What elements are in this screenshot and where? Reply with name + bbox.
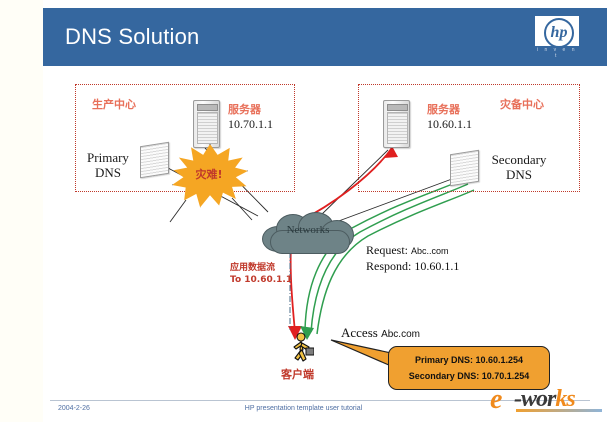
secondary-dns-label-line2: DNS <box>483 167 555 182</box>
region-label-dr: 灾备中心 <box>500 96 544 112</box>
respond-label: Respond: <box>366 259 411 273</box>
access-label-text: Access <box>341 325 378 340</box>
burst-ray-right <box>232 198 252 220</box>
primary-server-name: 服务器 <box>228 101 261 117</box>
secondary-dns-label-line1: Secondary <box>483 152 555 167</box>
region-label-production: 生产中心 <box>92 96 136 112</box>
access-annotation: Access Abc.com <box>341 325 420 341</box>
secondary-server-ip: 10.60.1.1 <box>427 117 472 132</box>
burst-ray-left <box>170 200 186 222</box>
eworks-logo-e: e <box>490 384 502 416</box>
primary-dns-icon <box>140 142 169 179</box>
application-flow-label: 应用数据流 To 10.60.1.1 <box>230 262 292 286</box>
page-title: DNS Solution <box>65 24 199 50</box>
access-value: Abc.com <box>381 329 420 340</box>
secondary-dns-icon <box>450 150 479 187</box>
left-margin-strip <box>0 0 43 422</box>
network-cloud-label: Networks <box>262 224 354 236</box>
request-label: Request: <box>366 243 408 257</box>
flow-label-line2: To 10.60.1.1 <box>230 274 292 286</box>
secondary-server-name: 服务器 <box>427 101 460 117</box>
request-value: Abc..com <box>411 246 449 256</box>
eworks-logo: e -works <box>488 382 606 416</box>
primary-server-icon <box>193 100 220 148</box>
flow-label-line1: 应用数据流 <box>230 262 292 274</box>
callout-secondary-dns: Secondary DNS: 10.70.1.254 <box>389 371 549 381</box>
hp-logo-tagline: i n v e n t <box>537 47 577 59</box>
callout-primary-dns: Primary DNS: 10.60.1.254 <box>389 355 549 365</box>
respond-value: 10.60.1.1 <box>414 259 459 273</box>
client-label: 客户端 <box>281 366 314 382</box>
slide-canvas: DNS Solution hp i n v e n t <box>0 0 607 422</box>
hp-logo: hp i n v e n t <box>535 16 579 58</box>
primary-dns-label-line1: Primary <box>78 150 138 165</box>
primary-dns-label-line2: DNS <box>78 165 138 180</box>
eworks-logo-bar <box>516 409 602 412</box>
disaster-label: 灾难! <box>172 166 246 182</box>
primary-server-ip: 10.70.1.1 <box>228 117 273 132</box>
hp-logo-mark: hp <box>544 18 574 48</box>
secondary-server-icon <box>383 100 410 148</box>
client-person-icon <box>288 332 314 364</box>
request-respond-block: Request: Abc..com Respond: 10.60.1.1 <box>366 243 459 274</box>
